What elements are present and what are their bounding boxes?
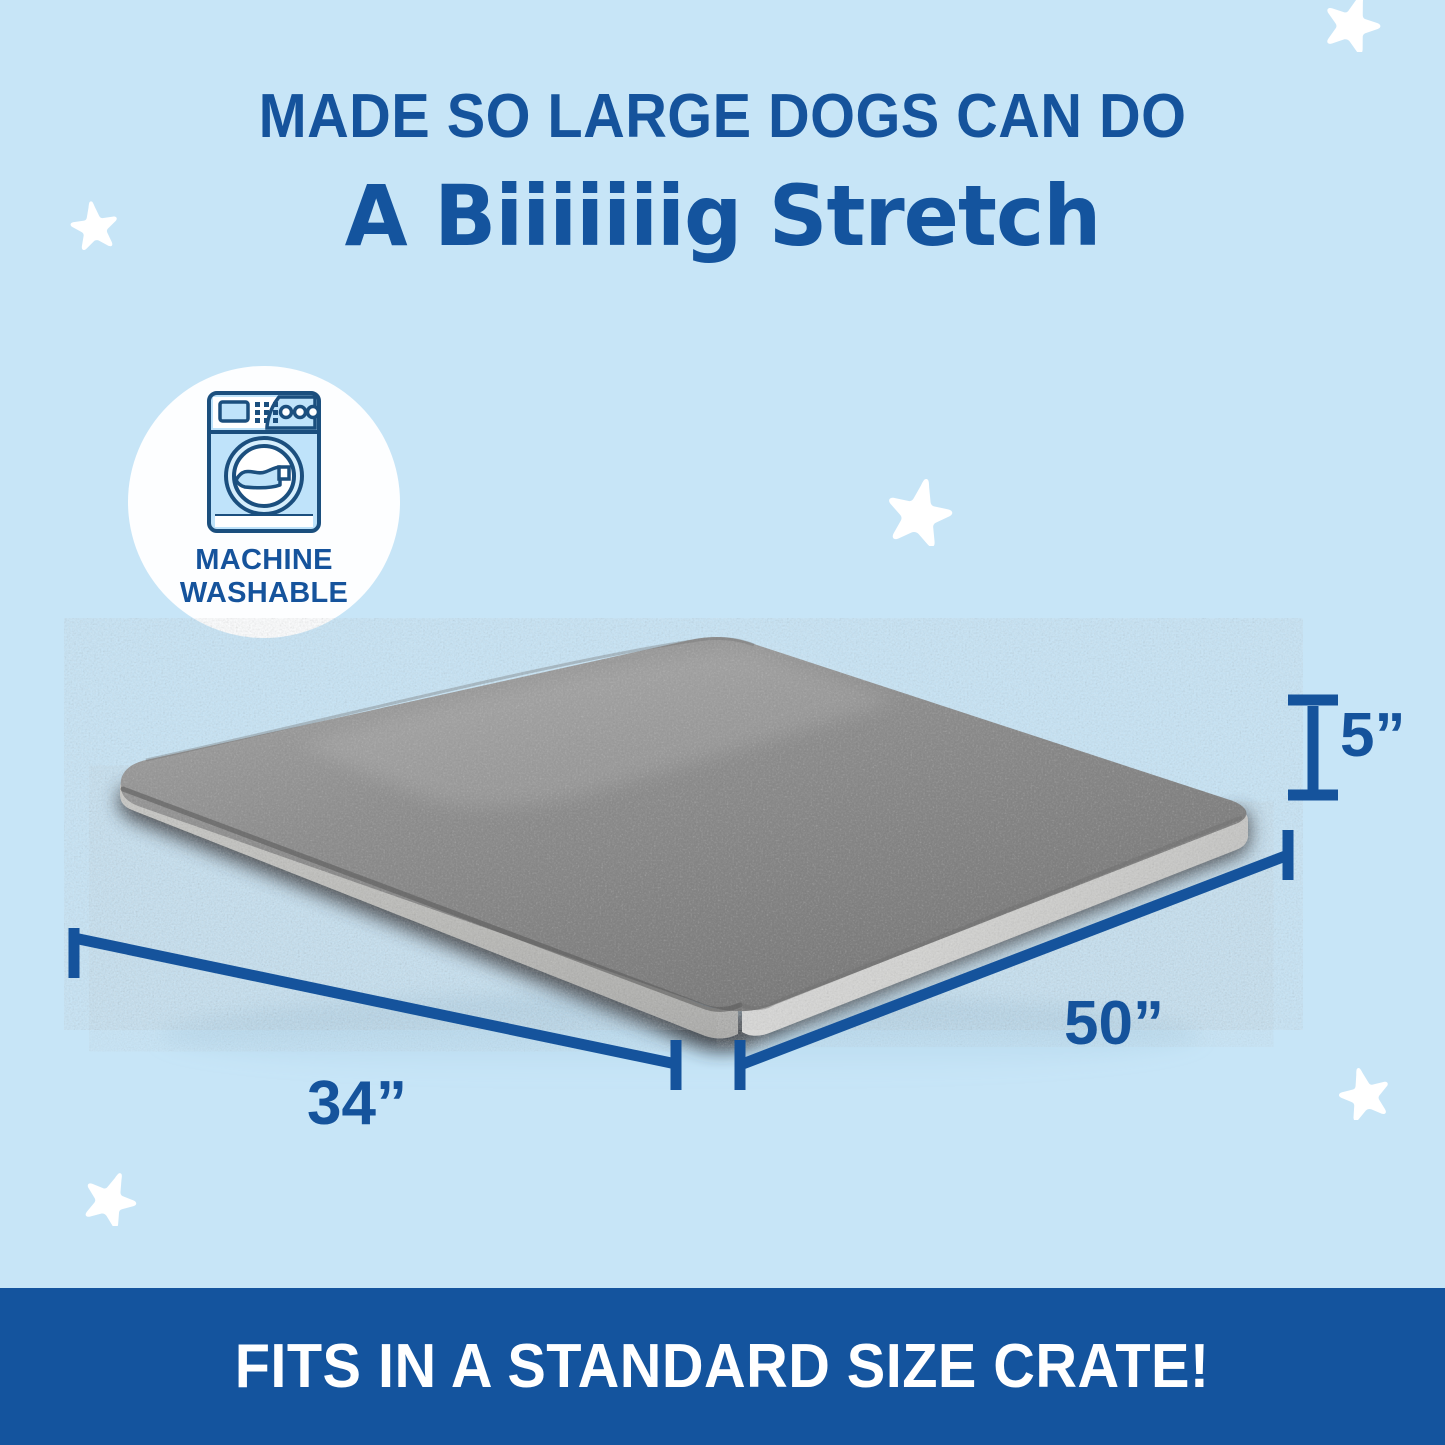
product-infographic: MADE SO LARGE DOGS CAN DO A Biiiiiiig St… xyxy=(0,0,1445,1445)
dimension-line-length xyxy=(740,855,1288,1065)
dimension-label-height: 5” xyxy=(1340,700,1405,771)
dimension-lines xyxy=(0,0,1445,1445)
dimension-annotations: 5” 50” 34” xyxy=(0,0,1445,1445)
dimension-line-width xyxy=(74,938,676,1064)
dimension-label-width: 34” xyxy=(307,1068,407,1139)
dimension-label-length: 50” xyxy=(1064,988,1164,1059)
bottom-banner: FITS IN A STANDARD SIZE CRATE! xyxy=(0,1288,1445,1445)
banner-text: FITS IN A STANDARD SIZE CRATE! xyxy=(235,1331,1210,1402)
